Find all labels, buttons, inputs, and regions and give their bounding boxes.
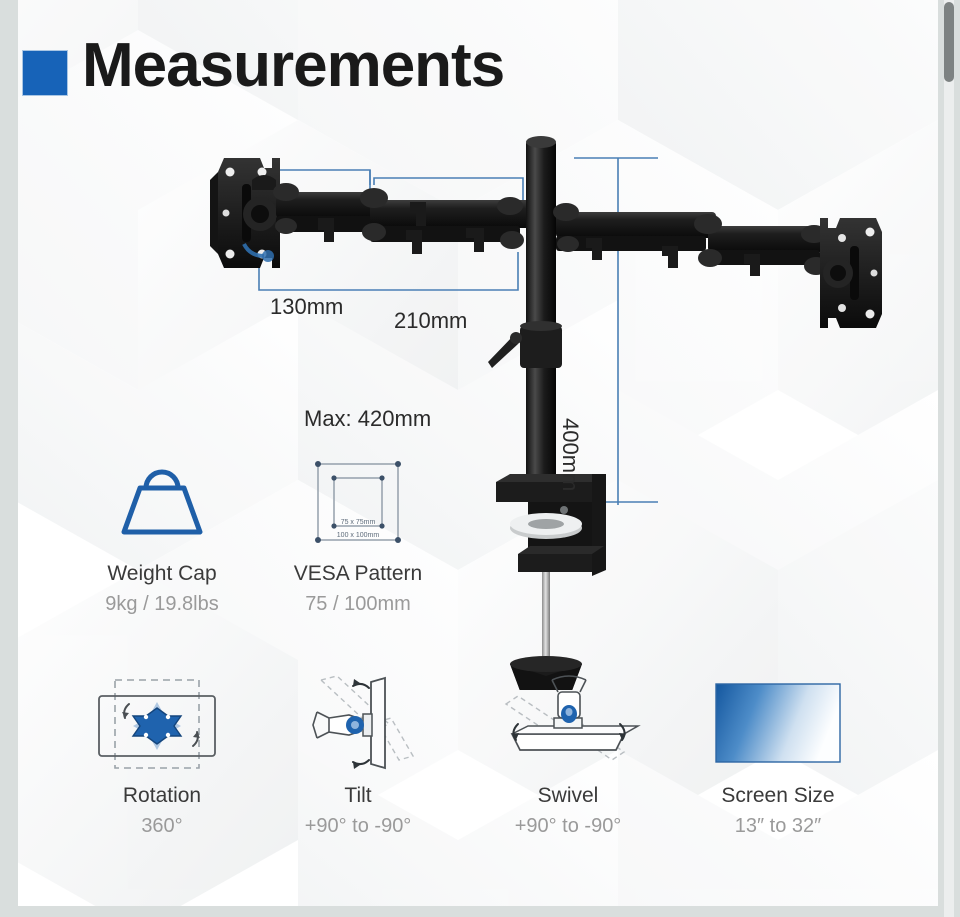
weight-icon xyxy=(62,450,262,554)
content-canvas: Measurements xyxy=(18,0,938,906)
vertical-scrollbar-track[interactable] xyxy=(944,0,954,917)
swivel-icon xyxy=(468,672,668,776)
feature-tilt: Tilt +90° to -90° xyxy=(258,672,458,838)
vesa-grid-icon: 75 x 75mm 100 x 100mm xyxy=(258,450,458,554)
feature-title: Tilt xyxy=(258,784,458,808)
feature-rotation: Rotation 360° xyxy=(62,672,262,838)
feature-value: 360° xyxy=(62,815,262,838)
feature-title: Screen Size xyxy=(678,784,878,808)
dimension-label-max-420mm: Max: 420mm xyxy=(304,406,431,432)
header-accent-square xyxy=(22,50,68,96)
desk-clamp xyxy=(496,474,606,690)
right-arm-segments xyxy=(553,203,828,276)
vesa-inner-label: 75 x 75mm xyxy=(341,519,376,526)
vertical-scrollbar-thumb[interactable] xyxy=(944,2,954,82)
center-pole xyxy=(488,136,562,500)
tilt-icon xyxy=(258,672,458,776)
dimension-label-400mm: 400mm xyxy=(557,418,583,491)
feature-value: 75 / 100mm xyxy=(258,593,458,616)
left-vesa-bracket xyxy=(210,158,280,268)
page-header: Measurements xyxy=(18,38,938,118)
right-vesa-bracket xyxy=(820,218,882,328)
dimension-label-130mm: 130mm xyxy=(270,294,343,320)
feature-vesa-pattern: 75 x 75mm 100 x 100mm VESA Pattern 75 / … xyxy=(258,450,458,616)
feature-title: Swivel xyxy=(468,784,668,808)
feature-title: Rotation xyxy=(62,784,262,808)
feature-value: 13″ to 32″ xyxy=(678,815,878,838)
rotation-icon xyxy=(62,672,262,776)
page-title: Measurements xyxy=(82,30,504,101)
feature-value: +90° to -90° xyxy=(258,815,458,838)
feature-title: Weight Cap xyxy=(62,562,262,586)
feature-swivel: Swivel +90° to -90° xyxy=(468,672,668,838)
screen-icon xyxy=(678,672,878,776)
page-background: Measurements xyxy=(0,0,960,917)
feature-screen-size: Screen Size 13″ to 32″ xyxy=(678,672,878,838)
feature-title: VESA Pattern xyxy=(258,562,458,586)
feature-value: 9kg / 19.8lbs xyxy=(62,593,262,616)
dimension-label-210mm: 210mm xyxy=(394,308,467,334)
feature-weight-cap: Weight Cap 9kg / 19.8lbs xyxy=(62,450,262,616)
vesa-outer-label: 100 x 100mm xyxy=(337,532,380,539)
feature-value: +90° to -90° xyxy=(468,815,668,838)
left-arm-segments xyxy=(273,183,530,254)
